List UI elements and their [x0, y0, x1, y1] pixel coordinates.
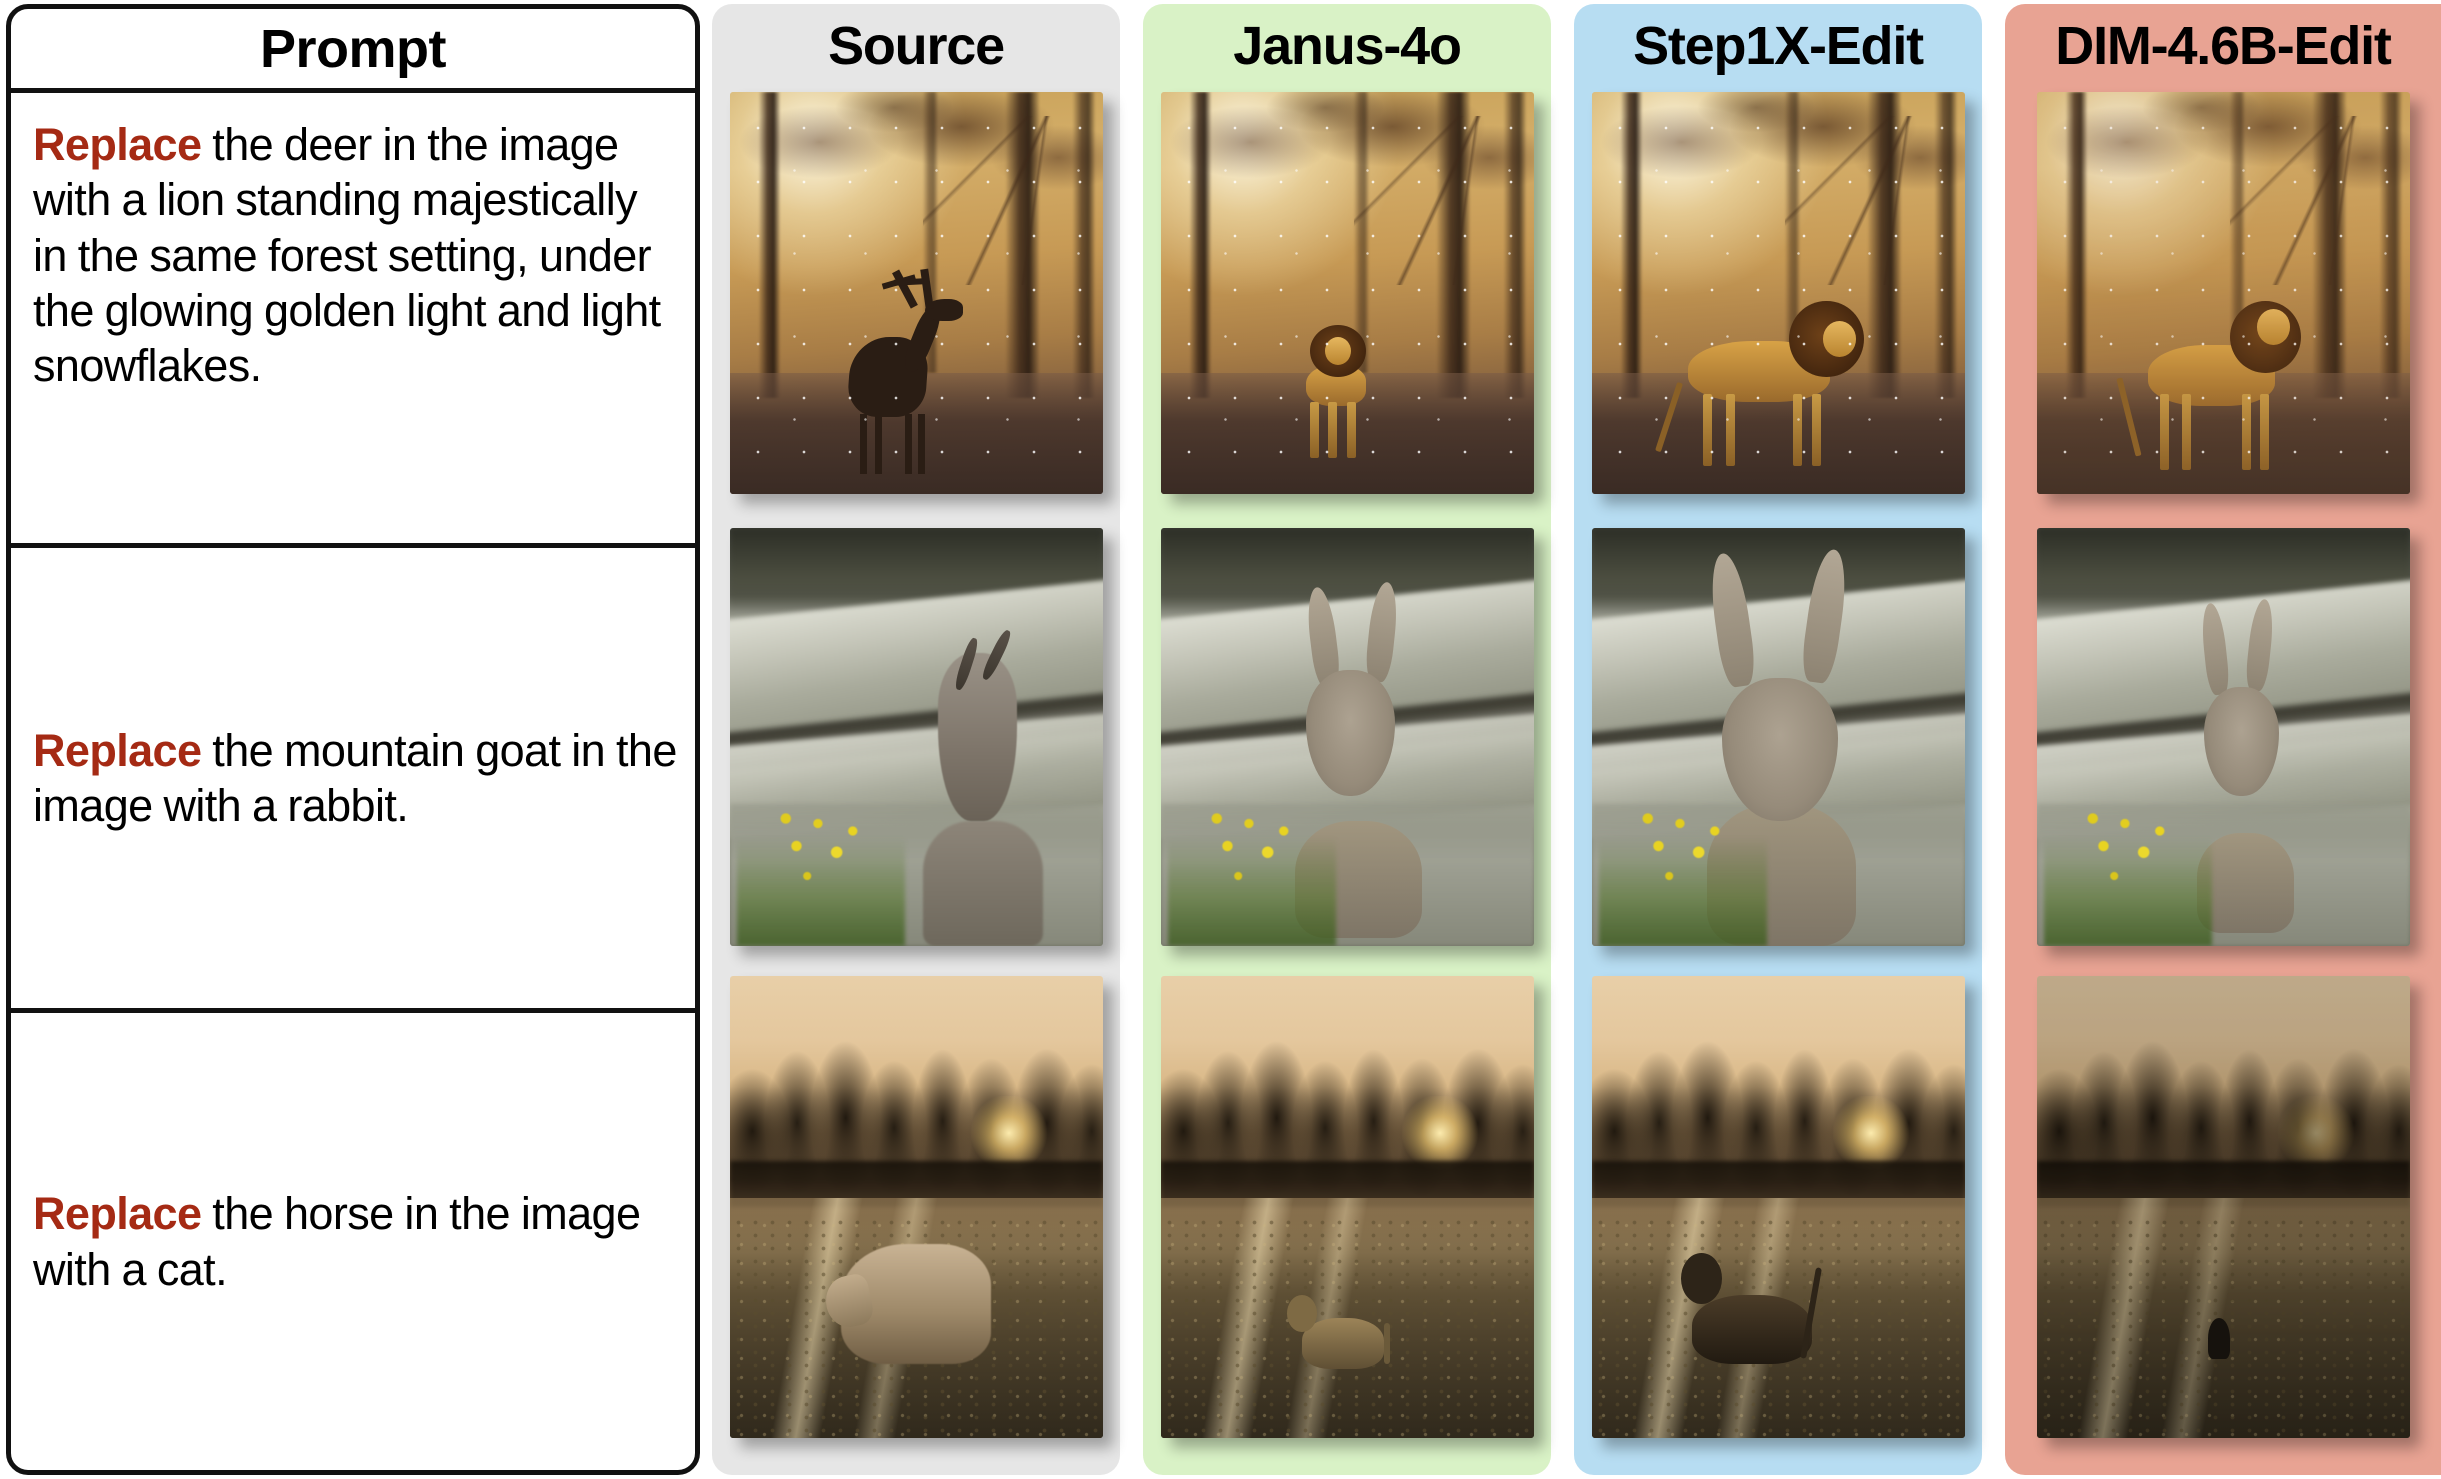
comparison-figure: Prompt Replace the deer in the image wit…: [0, 0, 2441, 1479]
image-cell-source-row-3: [730, 976, 1103, 1438]
image-cell-dim-row-2: [2037, 528, 2410, 946]
prompt-keyword-row-3: Replace: [33, 1188, 201, 1239]
image-cell-source-row-2: [730, 528, 1103, 946]
prompt-cell-row-2: Replace the mountain goat in the image w…: [11, 548, 695, 1013]
image-cell-step1x-row-3: [1592, 976, 1965, 1438]
image-cell-dim-row-3: [2037, 976, 2410, 1438]
column-header-label-source: Source: [828, 15, 1004, 77]
column-source: Source: [712, 4, 1120, 1475]
prompt-column-header: Prompt: [11, 9, 695, 93]
prompt-text-row-1: Replace the deer in the image with a lio…: [33, 117, 677, 394]
image-cell-janus-row-3: [1161, 976, 1534, 1438]
column-header-label-janus-4o: Janus-4o: [1233, 15, 1460, 77]
column-header-label-step1x-edit: Step1X-Edit: [1633, 15, 1923, 77]
prompt-keyword-row-2: Replace: [33, 725, 201, 776]
prompt-table: Prompt Replace the deer in the image wit…: [6, 4, 700, 1475]
prompt-cell-row-1: Replace the deer in the image with a lio…: [11, 93, 695, 548]
prompt-text-row-3: Replace the horse in the image with a ca…: [33, 1186, 677, 1297]
image-cell-step1x-row-1: [1592, 92, 1965, 494]
column-dim-4-6b-edit: DIM-4.6B-Edit: [2005, 4, 2441, 1475]
image-cell-janus-row-2: [1161, 528, 1534, 946]
column-header-label-dim-4-6b-edit: DIM-4.6B-Edit: [2055, 15, 2390, 77]
image-cell-source-row-1: [730, 92, 1103, 494]
prompt-text-row-2: Replace the mountain goat in the image w…: [33, 723, 677, 834]
column-header-step1x-edit: Step1X-Edit: [1574, 4, 1982, 88]
prompt-keyword-row-1: Replace: [33, 119, 201, 170]
prompt-cell-row-3: Replace the horse in the image with a ca…: [11, 1013, 695, 1470]
column-step1x-edit: Step1X-Edit: [1574, 4, 1982, 1475]
image-cell-step1x-row-2: [1592, 528, 1965, 946]
prompt-column-header-label: Prompt: [260, 18, 446, 80]
image-cell-janus-row-1: [1161, 92, 1534, 494]
image-cell-dim-row-1: [2037, 92, 2410, 494]
column-janus-4o: Janus-4o: [1143, 4, 1551, 1475]
column-header-dim-4-6b-edit: DIM-4.6B-Edit: [2005, 4, 2441, 88]
column-header-janus-4o: Janus-4o: [1143, 4, 1551, 88]
column-header-source: Source: [712, 4, 1120, 88]
